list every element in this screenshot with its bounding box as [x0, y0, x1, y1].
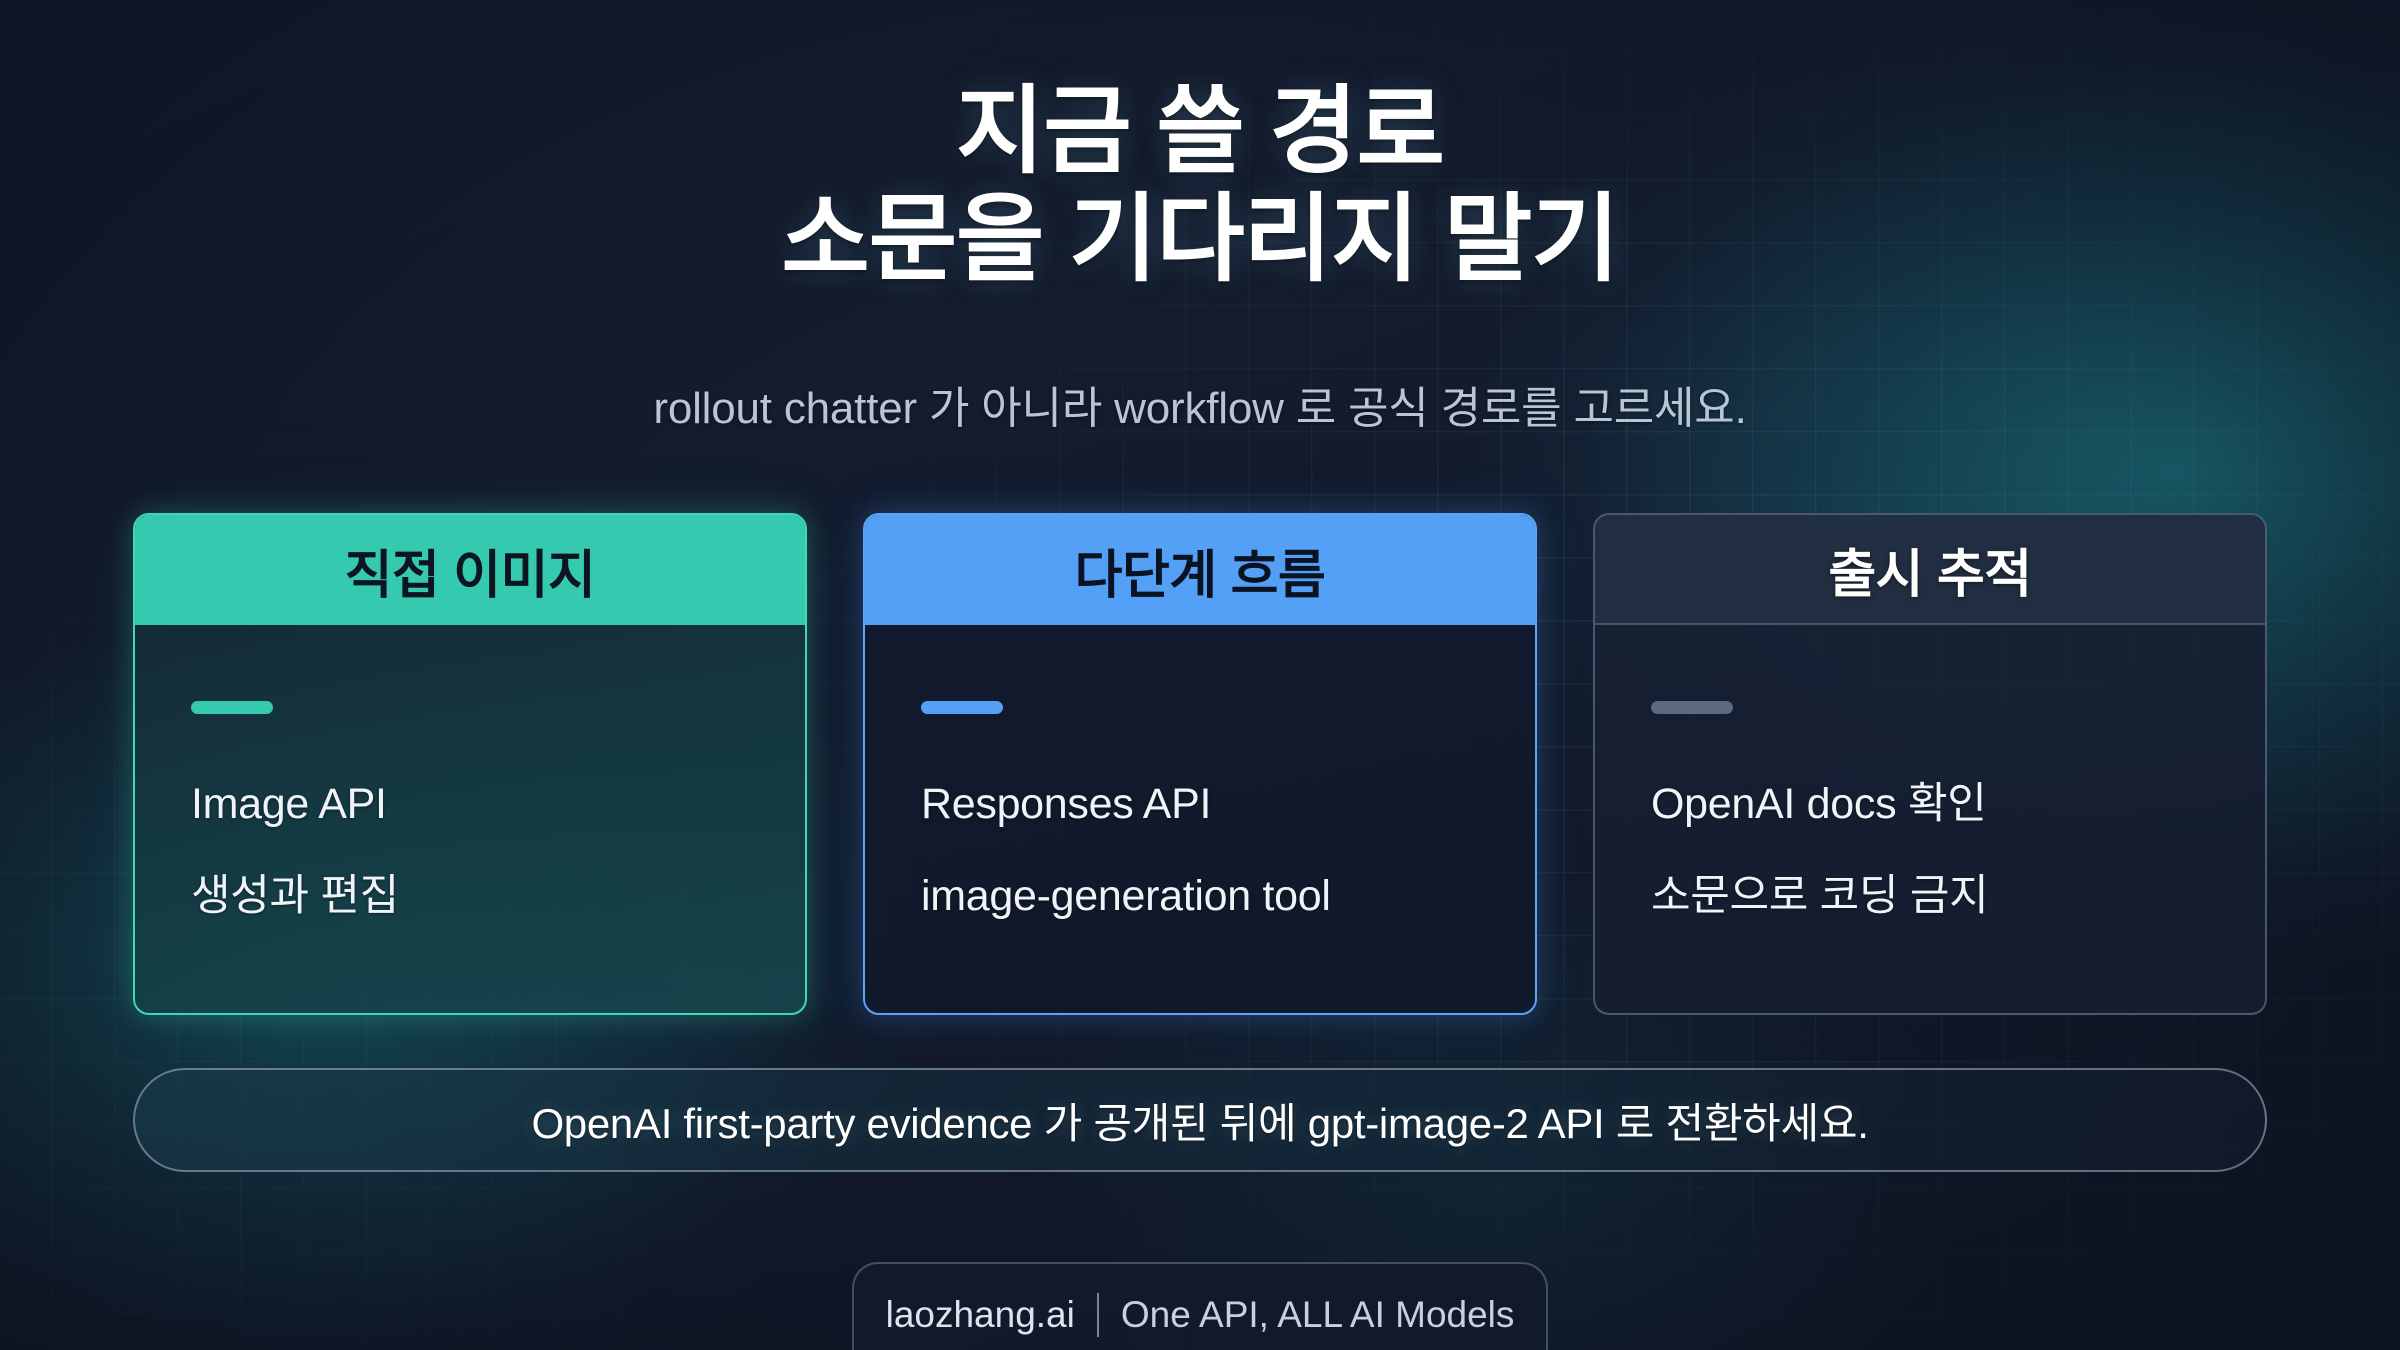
brand-pill[interactable]: laozhang.ai One API, ALL AI Models [852, 1262, 1548, 1350]
card-header-direct-image: 직접 이미지 [135, 515, 805, 625]
card-multistep-flow[interactable]: 다단계 흐름 Responses API image-generation to… [863, 513, 1537, 1015]
title-line-2: 소문을 기다리지 말기 [0, 186, 2400, 294]
brand-tagline: One API, ALL AI Models [1121, 1294, 1515, 1336]
card-header-multistep-flow: 다단계 흐름 [865, 515, 1535, 625]
brand-name: laozhang.ai [886, 1294, 1075, 1336]
page-title: 지금 쓸 경로 소문을 기다리지 말기 [0, 78, 2400, 293]
card-line-1: Image API [191, 780, 749, 828]
footer-banner-text: OpenAI first-party evidence 가 공개된 뒤에 gpt… [531, 1090, 1868, 1151]
card-line-2: 생성과 편집 [191, 872, 749, 920]
card-direct-image[interactable]: 직접 이미지 Image API 생성과 편집 [133, 513, 807, 1015]
accent-dash-icon [1651, 701, 1733, 714]
footer-banner: OpenAI first-party evidence 가 공개된 뒤에 gpt… [133, 1068, 2267, 1172]
card-release-tracking[interactable]: 출시 추적 OpenAI docs 확인 소문으로 코딩 금지 [1593, 513, 2267, 1015]
card-body-release-tracking: OpenAI docs 확인 소문으로 코딩 금지 [1595, 625, 2265, 1013]
page-subtitle: rollout chatter 가 아니라 workflow 로 공식 경로를 … [0, 372, 2400, 436]
card-line-1: OpenAI docs 확인 [1651, 780, 2209, 828]
card-line-1: Responses API [921, 780, 1479, 828]
title-line-1: 지금 쓸 경로 [0, 78, 2400, 186]
accent-dash-icon [921, 701, 1003, 714]
accent-dash-icon [191, 701, 273, 714]
card-line-2: image-generation tool [921, 872, 1479, 920]
card-header-release-tracking: 출시 추적 [1595, 515, 2265, 625]
poster-canvas: 지금 쓸 경로 소문을 기다리지 말기 rollout chatter 가 아니… [0, 0, 2400, 1350]
brand-separator-icon [1097, 1293, 1099, 1337]
card-line-2: 소문으로 코딩 금지 [1651, 872, 2209, 920]
card-body-direct-image: Image API 생성과 편집 [135, 625, 805, 1013]
card-body-multistep-flow: Responses API image-generation tool [865, 625, 1535, 1013]
card-row: 직접 이미지 Image API 생성과 편집 다단계 흐름 Responses… [133, 513, 2267, 1015]
